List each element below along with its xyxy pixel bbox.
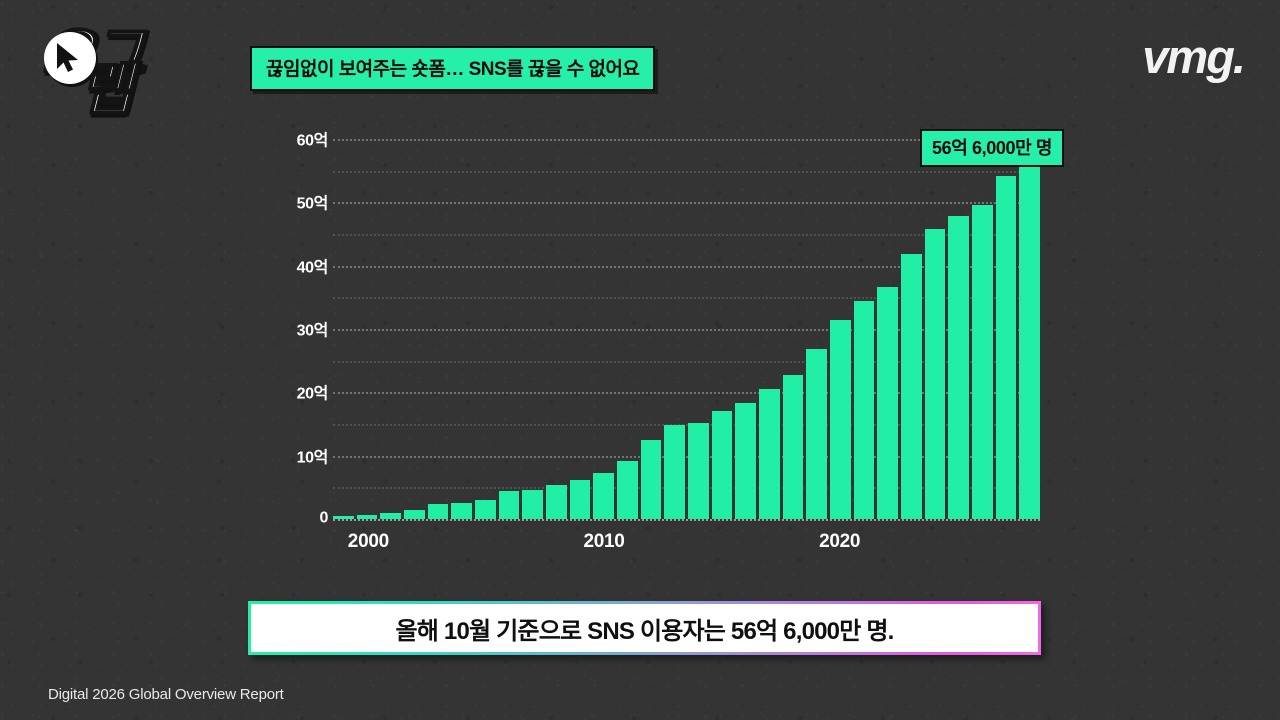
y-axis-tick-label: 0 [320, 510, 329, 528]
chart-bar [641, 440, 662, 519]
chart-bar [546, 485, 567, 519]
chart-bar [948, 216, 969, 519]
y-axis: 010억20억30억40억50억60억 [270, 139, 328, 519]
chart-bar [877, 287, 898, 519]
chart-bar [333, 516, 354, 519]
x-axis-tick-label: 2000 [348, 531, 389, 553]
chart-bar [735, 403, 756, 519]
chart-bar [522, 490, 543, 519]
y-axis-tick-label: 40억 [297, 253, 328, 277]
chart-bar [830, 320, 851, 520]
chart-bar [806, 349, 827, 519]
chart-bar [854, 301, 875, 520]
chart-bar [617, 461, 638, 519]
chart-bar [901, 254, 922, 519]
caption-inner: 올해 10월 기준으로 SNS 이용자는 56억 6,000만 명. [251, 604, 1038, 652]
x-axis: 200020102020 [333, 531, 1040, 561]
chart-bar [759, 389, 780, 519]
value-callout-badge: 56억 6,000만 명 [920, 129, 1064, 167]
network-logo: vmg. [1142, 33, 1244, 80]
source-note: Digital 2026 Global Overview Report [48, 686, 284, 703]
chart-bar [570, 480, 591, 519]
y-axis-tick-label: 50억 [297, 190, 328, 214]
chart-bars [333, 139, 1040, 519]
chart-bar [380, 513, 401, 519]
caption-text: 올해 10월 기준으로 SNS 이용자는 56억 6,000만 명. [395, 611, 893, 646]
chart-bar [972, 205, 993, 519]
chart-bar [404, 510, 425, 519]
chart-bar [428, 504, 449, 519]
x-axis-tick-label: 2010 [583, 531, 624, 553]
chart-bar [357, 515, 378, 519]
channel-logo: 오그 랩 [42, 26, 257, 111]
chart-baseline [333, 519, 1040, 521]
y-axis-tick-label: 30억 [297, 317, 328, 341]
chart-bar [451, 503, 472, 519]
y-axis-tick-label: 20억 [297, 380, 328, 404]
chart-bar [593, 473, 614, 519]
x-axis-tick-label: 2020 [819, 531, 860, 553]
caption-banner: 올해 10월 기준으로 SNS 이용자는 56억 6,000만 명. [248, 601, 1041, 655]
headline-banner: 끊임없이 보여주는 숏폼… SNS를 끊을 수 없어요 [250, 46, 655, 91]
chart-bar [499, 491, 520, 519]
chart-bar [925, 229, 946, 519]
chart-bar [475, 500, 496, 519]
chart-bar [688, 423, 709, 519]
y-axis-tick-label: 10억 [297, 443, 328, 467]
value-callout-text: 56억 6,000만 명 [932, 138, 1052, 158]
bar-chart: 010억20억30억40억50억60억 200020102020 56억 6,0… [333, 139, 1040, 519]
chart-bar [1019, 161, 1040, 519]
headline-text: 끊임없이 보여주는 숏폼… SNS를 끊을 수 없어요 [266, 59, 639, 80]
chart-bar [712, 411, 733, 519]
y-axis-tick-label: 60억 [297, 127, 328, 151]
chart-bar [664, 425, 685, 519]
cursor-arrow-icon [44, 32, 96, 84]
chart-bar [783, 375, 804, 519]
chart-bar [996, 176, 1017, 519]
